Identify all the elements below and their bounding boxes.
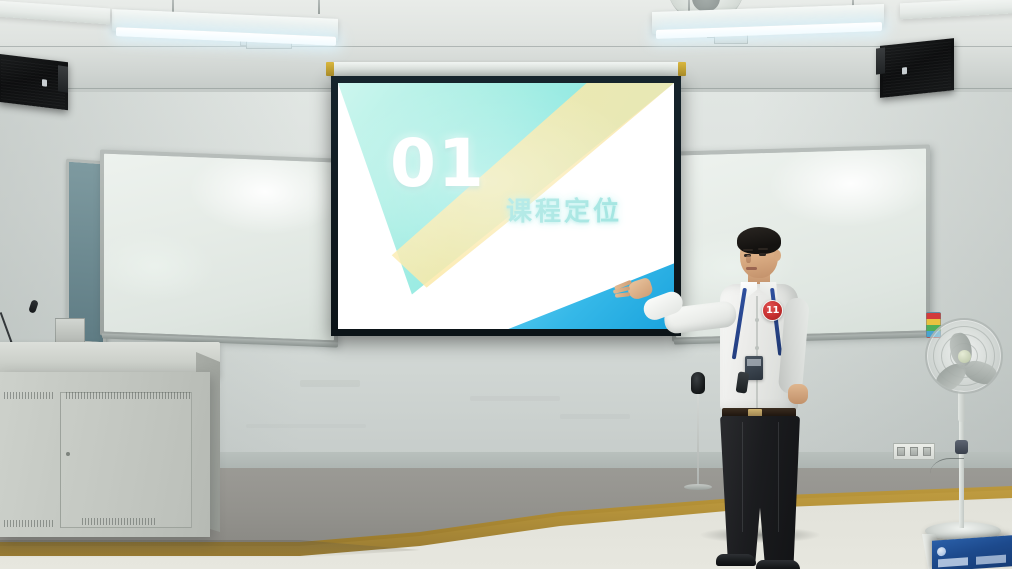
blue-standing-banner bbox=[932, 535, 1012, 569]
podium-vent bbox=[4, 520, 54, 527]
light-hanger-rod bbox=[318, 0, 320, 14]
speaker-bracket bbox=[876, 47, 885, 74]
socket-hole bbox=[910, 447, 918, 456]
wall-scuff bbox=[246, 424, 366, 428]
presenter-shirt-placket bbox=[756, 296, 758, 408]
podium-vent bbox=[4, 392, 54, 399]
presenter-badge-number: 11 bbox=[766, 305, 779, 316]
whiteboard-left-surface bbox=[104, 154, 334, 341]
podium-vent bbox=[66, 392, 190, 399]
podium-access-door[interactable] bbox=[60, 392, 192, 528]
pedestal-fan bbox=[925, 318, 1003, 394]
screen-housing-cap-left bbox=[326, 62, 334, 76]
trouser-crease bbox=[742, 422, 743, 532]
presenter-eyebrow bbox=[743, 249, 753, 251]
wall-scuff bbox=[560, 414, 630, 419]
podium-vent bbox=[82, 518, 156, 525]
projector-screen-housing bbox=[330, 62, 682, 76]
podium-door-handle[interactable] bbox=[66, 452, 70, 456]
presenter-eye bbox=[759, 253, 766, 256]
socket-hole bbox=[923, 447, 931, 456]
presenter-left-hand bbox=[788, 384, 808, 404]
presenter-number-badge: 11 bbox=[762, 300, 783, 321]
screen-housing-cap-right bbox=[678, 62, 686, 76]
trouser-crease bbox=[778, 422, 779, 532]
slide-section-title: 课程定位 bbox=[506, 191, 622, 228]
podium-microphone-head bbox=[28, 299, 39, 314]
lectern-podium-top bbox=[0, 342, 220, 376]
presenter-shirt-button bbox=[755, 318, 759, 322]
speaker-bracket bbox=[58, 65, 68, 93]
banner-logo-icon bbox=[937, 547, 946, 557]
podium-monitor bbox=[55, 318, 85, 343]
slide-section-number: 01 bbox=[390, 125, 486, 202]
presenter: 11 bbox=[690, 222, 830, 562]
presenter-shoe-right bbox=[756, 560, 800, 569]
ceiling-seam bbox=[0, 46, 1012, 47]
wall-speaker-right bbox=[880, 38, 954, 98]
socket-hole bbox=[897, 447, 905, 456]
speaker-led bbox=[42, 79, 47, 87]
wall-scuff bbox=[300, 380, 360, 387]
pedestal-fan-neck bbox=[958, 390, 965, 422]
fan-hub bbox=[958, 350, 971, 363]
banner-panel bbox=[938, 557, 968, 567]
banner-panel bbox=[976, 555, 1006, 565]
presenter-shirt-button bbox=[755, 346, 759, 350]
presenter-trousers bbox=[720, 416, 800, 564]
wall-scuff bbox=[470, 396, 560, 401]
presenter-shoe-left bbox=[716, 554, 756, 566]
speaker-grille bbox=[1, 57, 65, 107]
pedestal-fan-cord bbox=[930, 458, 964, 484]
presenter-eyebrow bbox=[758, 248, 768, 250]
banner-headline bbox=[949, 542, 1009, 546]
whiteboard-left bbox=[100, 149, 338, 344]
pedestal-fan-height-clamp[interactable] bbox=[955, 440, 968, 454]
classroom-scene: 01 课程定位 bbox=[0, 0, 1012, 569]
speaker-grille bbox=[883, 41, 951, 94]
presenter-ear bbox=[774, 250, 781, 261]
wall-power-socket[interactable] bbox=[893, 443, 935, 460]
presenter-mouth bbox=[746, 267, 757, 270]
speaker-led bbox=[902, 67, 907, 75]
presenter-nose bbox=[746, 255, 751, 263]
